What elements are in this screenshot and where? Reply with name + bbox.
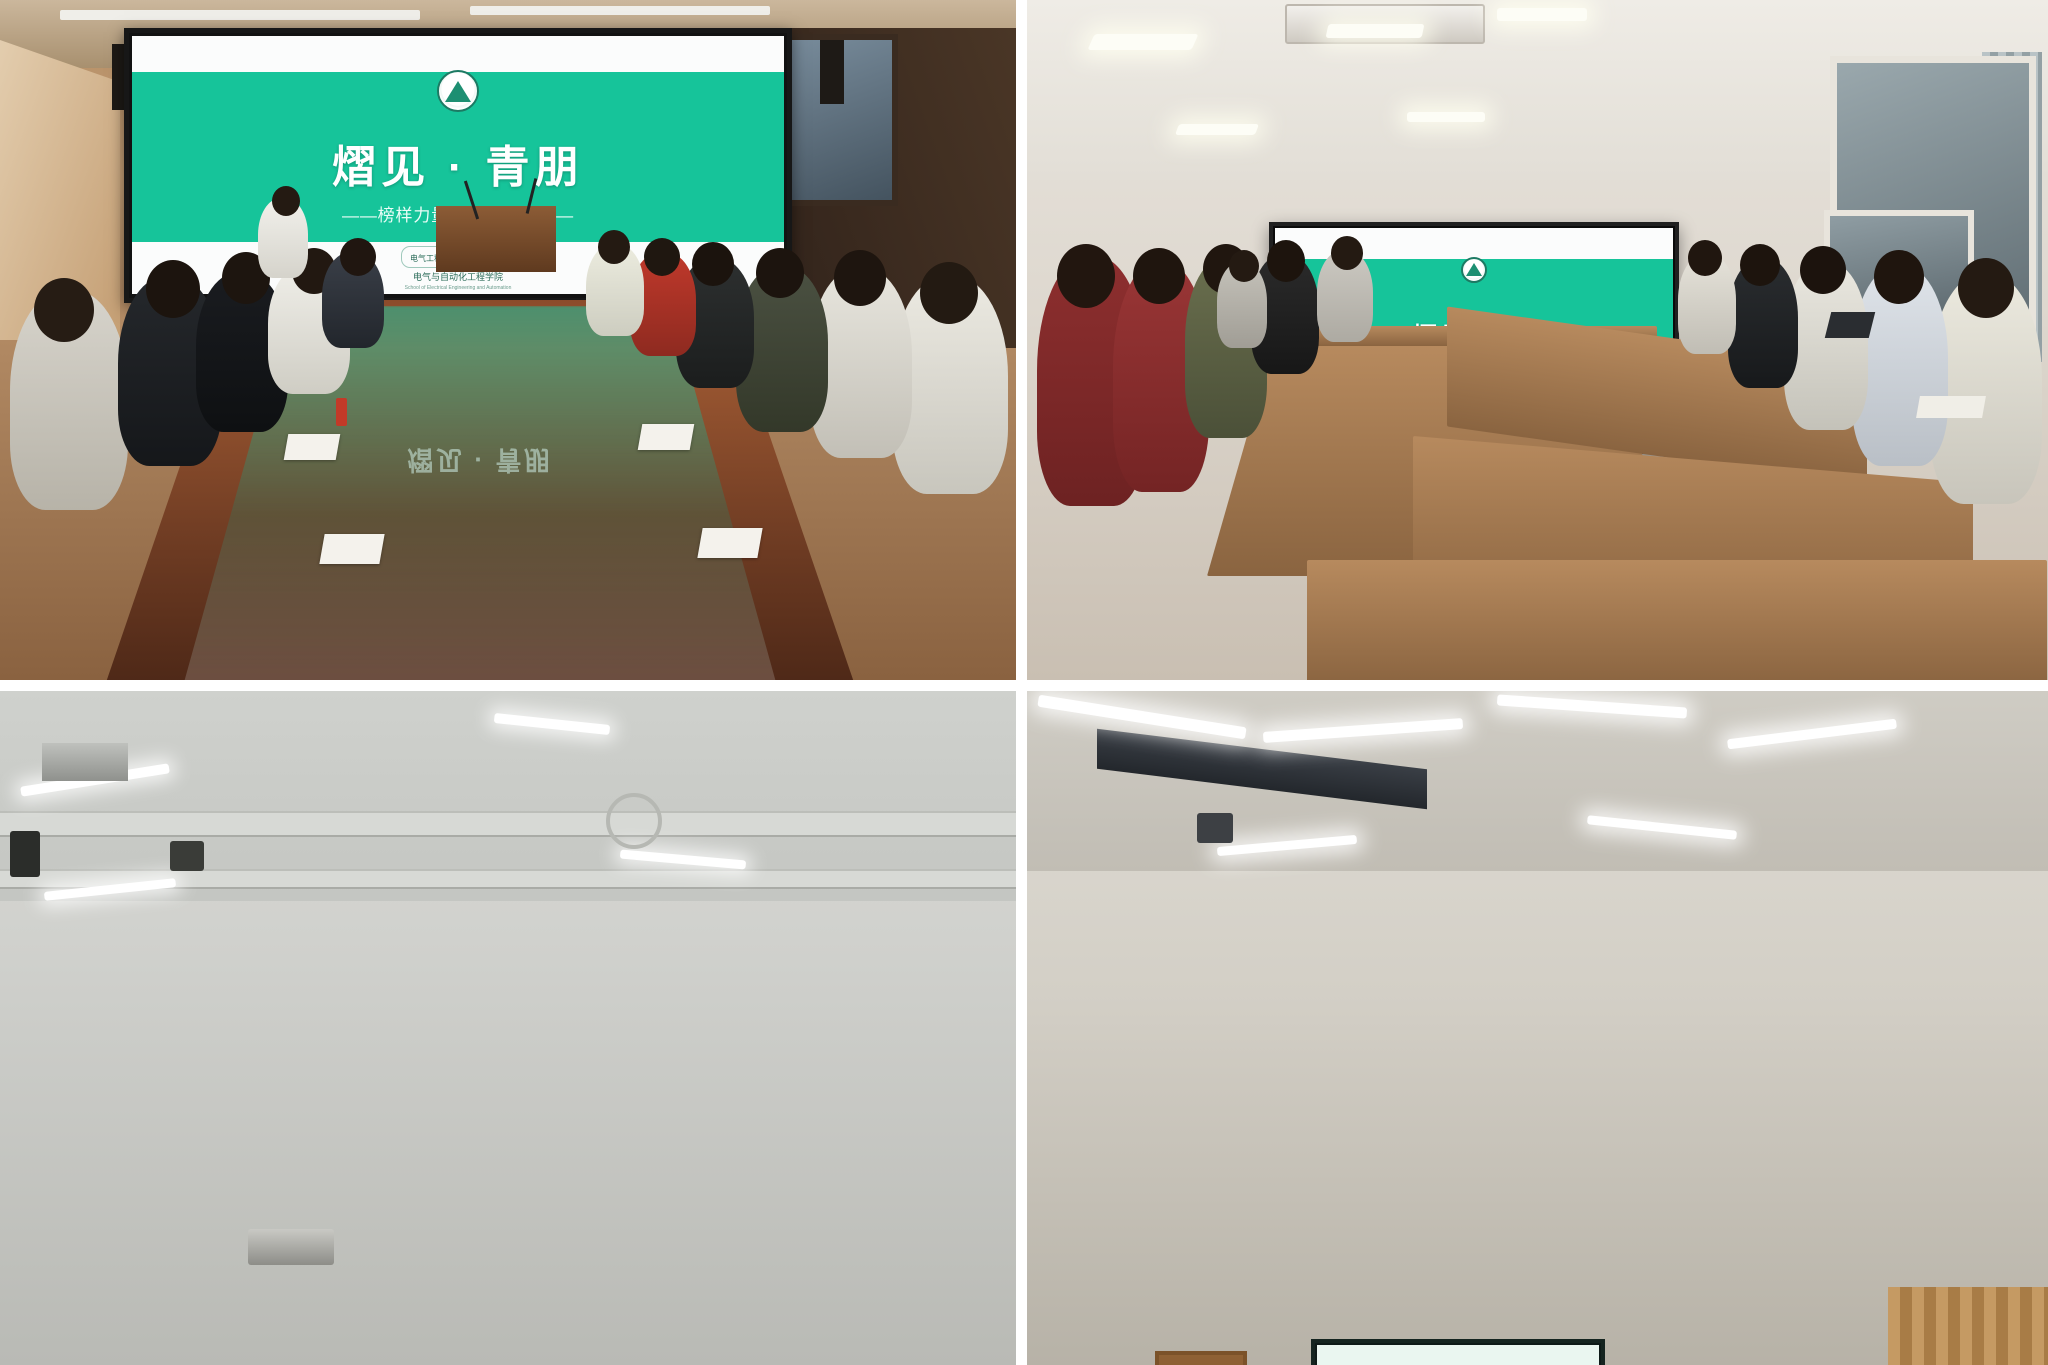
ceiling-light (1087, 34, 1198, 50)
security-camera (1197, 813, 1233, 843)
school-crest-icon (437, 70, 479, 112)
ceiling-light (1326, 24, 1425, 38)
ceiling-light (1407, 112, 1485, 122)
attendee-head (1331, 236, 1363, 270)
attendee-head (1740, 244, 1780, 286)
slide-top-band (132, 36, 784, 72)
meeting-room-scene: 熠见 · 青朋 ——榜样力量骨干座谈会—— 电气工程及其自动化21-3班 电气与… (0, 0, 1016, 680)
school-crest-icon (1461, 257, 1487, 283)
attendee-head (1267, 240, 1305, 282)
ac-unit (42, 743, 128, 781)
attendee-head (1958, 258, 2014, 318)
water-bottle (336, 398, 347, 426)
panel-top-left: 熠见 · 青朋 ——榜样力量骨干座谈会—— 电气工程及其自动化21-3班 电气与… (0, 0, 1022, 686)
document-on-table (319, 534, 384, 564)
presenter-head (1229, 250, 1259, 282)
attendee-head (1688, 240, 1722, 276)
laptop (1825, 312, 1875, 338)
attendee-head (1133, 248, 1185, 304)
window-curtain (1888, 1287, 2048, 1365)
speaker (820, 40, 844, 104)
ceiling-fan (606, 793, 662, 849)
slide-title: 熠见 · 青朋 (332, 131, 584, 195)
lecture-hall-scene: 1 个人介绍 政治面貌：中共党员 籍贯：陕西延安 Shadow Mode 6月5… (0, 691, 1016, 1365)
document-on-table (697, 528, 762, 558)
seminar-room-scene: 熠见·青朋 ——榜样力量骨干座谈会—— 电气与自动化工程学院 (1027, 0, 2048, 680)
security-camera (170, 841, 204, 871)
attendee-head (340, 238, 376, 276)
large-classroom-scene: 熠见·青朋 ——榜样力量骨干座谈会—— 电气与自动化工程学院 (1027, 691, 2048, 1365)
slide-welcome-projection: 熠见·青朋 ——榜样力量骨干座谈会—— 电气与自动化工程学院 (1317, 1345, 1599, 1365)
notebook (1916, 396, 1986, 418)
podium (436, 206, 556, 272)
ceiling-light-strip (470, 6, 770, 15)
ceiling-projector (248, 1229, 334, 1265)
ceiling-beam (0, 811, 1016, 837)
slide-top-band (1317, 1345, 1599, 1365)
attendee-head (692, 242, 734, 286)
attendee-head (756, 248, 804, 298)
attendee-head (644, 238, 680, 276)
attendee-head (34, 278, 94, 342)
attendee-head (1057, 244, 1115, 308)
attendee-head (920, 262, 978, 324)
attendee-head (1800, 246, 1846, 294)
door (1155, 1351, 1247, 1365)
ceiling-light (1175, 124, 1259, 135)
document-on-table (638, 424, 695, 450)
slide-org-en: School of Electrical Engineering and Aut… (405, 285, 512, 291)
ceiling-light-strip (60, 10, 420, 20)
table-foreground (1307, 560, 2047, 680)
attendee-head (598, 230, 630, 264)
panel-bottom-right: 熠见·青朋 ——榜样力量骨干座谈会—— 电气与自动化工程学院 (1022, 686, 2048, 1365)
attendee-head (834, 250, 886, 306)
presenter-head (272, 186, 300, 216)
attendee-head (146, 260, 200, 318)
ceiling-light (1497, 8, 1587, 21)
wall-speaker (10, 831, 40, 877)
document-on-table (284, 434, 341, 460)
panel-bottom-left: 1 个人介绍 政治面貌：中共党员 籍贯：陕西延安 Shadow Mode 6月5… (0, 686, 1022, 1365)
panel-top-right: 熠见·青朋 ——榜样力量骨干座谈会—— 电气与自动化工程学院 (1022, 0, 2048, 686)
attendee-head (1874, 250, 1924, 304)
photo-collage: 熠见 · 青朋 ——榜样力量骨干座谈会—— 电气工程及其自动化21-3班 电气与… (0, 0, 2048, 1365)
